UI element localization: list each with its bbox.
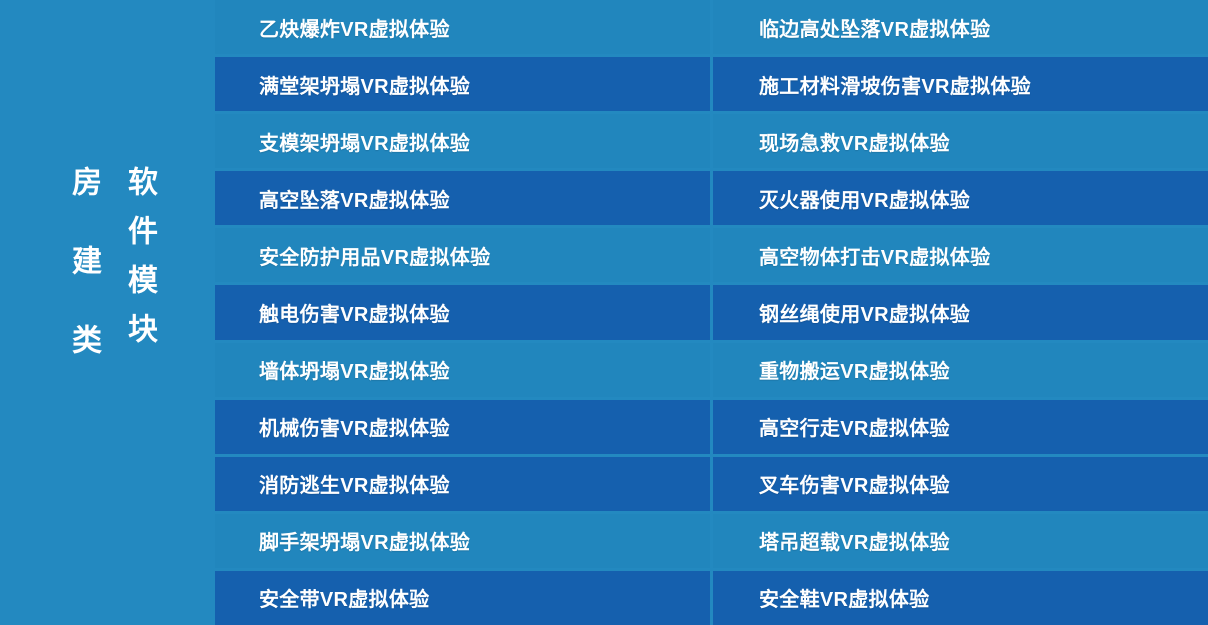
module-cell[interactable]: 叉车伤害VR虚拟体验	[713, 457, 1208, 511]
module-cell[interactable]: 墙体坍塌VR虚拟体验	[215, 343, 710, 397]
vr-module-list-page: 房建类 软件模块 乙炔爆炸VR虚拟体验满堂架坍塌VR虚拟体验支模架坍塌VR虚拟体…	[0, 0, 1208, 625]
module-cell[interactable]: 施工材料滑坡伤害VR虚拟体验	[713, 57, 1208, 111]
module-table: 乙炔爆炸VR虚拟体验满堂架坍塌VR虚拟体验支模架坍塌VR虚拟体验高空坠落VR虚拟…	[215, 0, 1208, 625]
module-cell-label: 灭火器使用VR虚拟体验	[759, 184, 970, 213]
module-cell-label: 重物搬运VR虚拟体验	[759, 355, 950, 384]
module-cell[interactable]: 灭火器使用VR虚拟体验	[713, 171, 1208, 225]
module-cell[interactable]: 脚手架坍塌VR虚拟体验	[215, 514, 710, 568]
module-cell-label: 满堂架坍塌VR虚拟体验	[259, 70, 470, 99]
module-cell[interactable]: 支模架坍塌VR虚拟体验	[215, 114, 710, 168]
module-cell-label: 高空坠落VR虚拟体验	[259, 184, 450, 213]
module-cell-label: 钢丝绳使用VR虚拟体验	[759, 298, 970, 327]
module-cell-label: 消防逃生VR虚拟体验	[259, 469, 450, 498]
category-primary-label: 房建类	[68, 166, 98, 403]
module-cell-label: 高空行走VR虚拟体验	[759, 412, 950, 441]
module-cell[interactable]: 安全鞋VR虚拟体验	[713, 571, 1208, 625]
module-cell-label: 墙体坍塌VR虚拟体验	[259, 355, 450, 384]
category-secondary-label: 软件模块	[124, 166, 154, 362]
module-cell[interactable]: 触电伤害VR虚拟体验	[215, 285, 710, 339]
module-column-right: 临边高处坠落VR虚拟体验施工材料滑坡伤害VR虚拟体验现场急救VR虚拟体验灭火器使…	[713, 0, 1208, 625]
module-cell-label: 触电伤害VR虚拟体验	[259, 298, 450, 327]
module-cell[interactable]: 高空物体打击VR虚拟体验	[713, 228, 1208, 282]
module-cell[interactable]: 安全带VR虚拟体验	[215, 571, 710, 625]
category-label-panel: 房建类 软件模块	[0, 0, 215, 625]
module-cell[interactable]: 满堂架坍塌VR虚拟体验	[215, 57, 710, 111]
module-cell[interactable]: 高空行走VR虚拟体验	[713, 400, 1208, 454]
module-cell-label: 塔吊超载VR虚拟体验	[759, 526, 950, 555]
module-cell[interactable]: 高空坠落VR虚拟体验	[215, 171, 710, 225]
module-cell-label: 施工材料滑坡伤害VR虚拟体验	[759, 70, 1031, 99]
module-cell-label: 安全鞋VR虚拟体验	[759, 583, 929, 612]
module-cell[interactable]: 钢丝绳使用VR虚拟体验	[713, 285, 1208, 339]
module-cell-label: 乙炔爆炸VR虚拟体验	[259, 13, 450, 42]
module-cell-label: 临边高处坠落VR虚拟体验	[759, 13, 990, 42]
module-cell[interactable]: 重物搬运VR虚拟体验	[713, 343, 1208, 397]
module-cell[interactable]: 现场急救VR虚拟体验	[713, 114, 1208, 168]
module-cell-label: 高空物体打击VR虚拟体验	[759, 241, 990, 270]
module-cell[interactable]: 消防逃生VR虚拟体验	[215, 457, 710, 511]
module-cell-label: 机械伤害VR虚拟体验	[259, 412, 450, 441]
module-cell[interactable]: 安全防护用品VR虚拟体验	[215, 228, 710, 282]
module-cell-label: 支模架坍塌VR虚拟体验	[259, 127, 470, 156]
module-cell[interactable]: 机械伤害VR虚拟体验	[215, 400, 710, 454]
module-cell-label: 脚手架坍塌VR虚拟体验	[259, 526, 470, 555]
module-cell[interactable]: 塔吊超载VR虚拟体验	[713, 514, 1208, 568]
module-cell[interactable]: 临边高处坠落VR虚拟体验	[713, 0, 1208, 54]
module-cell-label: 安全带VR虚拟体验	[259, 583, 429, 612]
module-cell-label: 叉车伤害VR虚拟体验	[759, 469, 950, 498]
module-column-left: 乙炔爆炸VR虚拟体验满堂架坍塌VR虚拟体验支模架坍塌VR虚拟体验高空坠落VR虚拟…	[215, 0, 710, 625]
module-cell-label: 现场急救VR虚拟体验	[759, 127, 950, 156]
module-cell[interactable]: 乙炔爆炸VR虚拟体验	[215, 0, 710, 54]
module-cell-label: 安全防护用品VR虚拟体验	[259, 241, 490, 270]
